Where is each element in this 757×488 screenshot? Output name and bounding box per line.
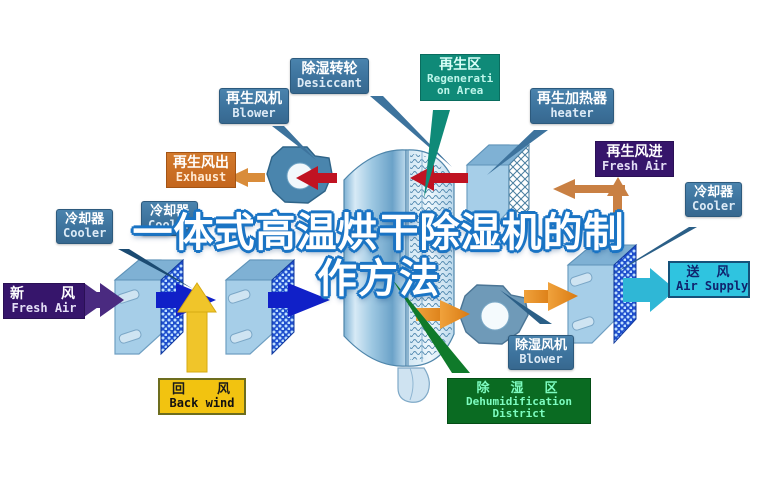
label-back-wind-en: Back wind <box>166 397 238 410</box>
label-desiccant-wheel-cn: 除湿转轮 <box>297 62 362 77</box>
page-title-line2: 作方法 <box>0 256 757 302</box>
label-dehumidification-district: 除 湿 区 Dehumidification District <box>447 378 591 424</box>
label-dehumid-district-cn: 除 湿 区 <box>454 382 584 396</box>
label-regeneration-exhaust-cn: 再生风出 <box>173 156 229 171</box>
label-regeneration-heater-cn: 再生加热器 <box>537 92 607 107</box>
label-regeneration-blower: 再生风机 Blower <box>219 88 289 124</box>
label-dehumid-blower: 除湿风机 Blower <box>508 335 574 370</box>
label-regeneration-heater: 再生加热器 heater <box>530 88 614 124</box>
label-regeneration-fresh-air: 再生风进 Fresh Air <box>595 141 674 177</box>
label-dehumid-blower-en: Blower <box>515 353 567 366</box>
label-regeneration-blower-cn: 再生风机 <box>226 92 282 107</box>
label-cooler-right-cn: 冷却器 <box>692 186 735 200</box>
label-fresh-air-inlet-en: Fresh Air <box>10 302 78 315</box>
diagram-canvas: 除湿转轮 Desiccant 再生风机 Blower 再生风出 Exhaust … <box>0 0 757 488</box>
page-title: 一体式高温烘干除湿机的制 作方法 <box>0 210 757 302</box>
label-desiccant-wheel-en: Desiccant <box>297 77 362 90</box>
label-desiccant-wheel: 除湿转轮 Desiccant <box>290 58 369 94</box>
label-regeneration-exhaust-en: Exhaust <box>173 171 229 184</box>
label-regeneration-area: 再生区 Regenerati on Area <box>420 54 500 101</box>
label-regeneration-fresh-air-en: Fresh Air <box>602 160 667 173</box>
label-back-wind-cn: 回 风 <box>166 383 238 397</box>
label-regeneration-exhaust: 再生风出 Exhaust <box>166 152 236 188</box>
page-title-line1: 一体式高温烘干除湿机的制 <box>133 210 625 256</box>
label-dehumid-district-en2: District <box>454 408 584 420</box>
label-regeneration-fresh-air-cn: 再生风进 <box>602 145 667 160</box>
label-regeneration-area-en2: on Area <box>427 85 493 97</box>
label-dehumid-blower-cn: 除湿风机 <box>515 339 567 353</box>
label-regeneration-area-cn: 再生区 <box>427 58 493 73</box>
label-back-wind: 回 风 Back wind <box>158 378 246 415</box>
label-regeneration-heater-en: heater <box>537 107 607 120</box>
label-regeneration-blower-en: Blower <box>226 107 282 120</box>
